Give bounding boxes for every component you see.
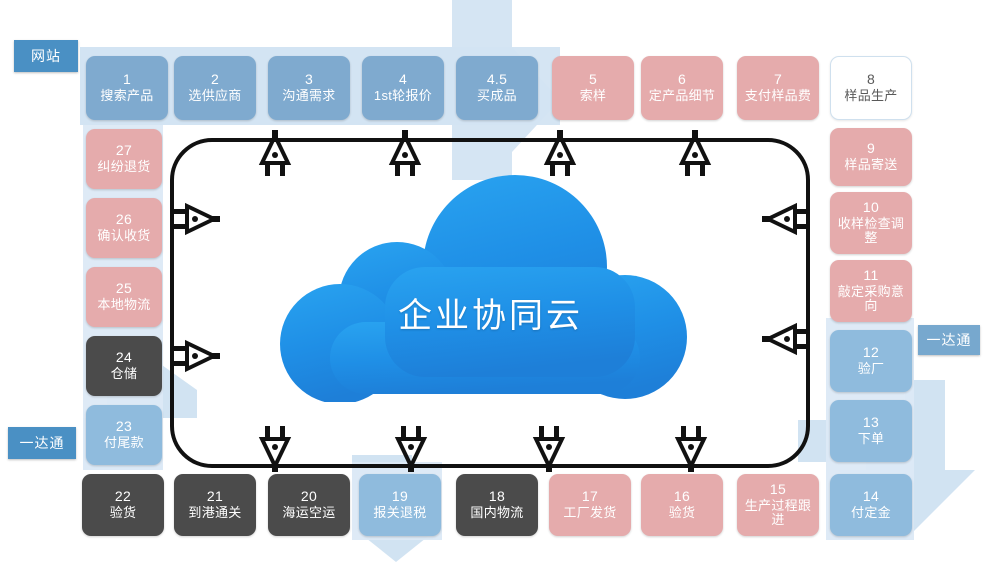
step-label: 买成品 [474, 89, 520, 104]
step-box-21[interactable]: 21 到港通关 [174, 474, 256, 536]
step-label: 1st轮报价 [371, 89, 435, 104]
step-label: 定产品细节 [646, 89, 719, 104]
step-box-5[interactable]: 5 索样 [552, 56, 634, 120]
step-box-22[interactable]: 22 验货 [82, 474, 164, 536]
tag-website-label: 网站 [31, 46, 61, 66]
step-number: 3 [305, 72, 313, 88]
step-box-10[interactable]: 10 收样检查调整 [830, 192, 912, 254]
step-label: 纠纷退货 [94, 160, 153, 175]
step-number: 23 [116, 419, 132, 435]
plug-top-4-icon [676, 130, 714, 178]
plug-top-1-icon [256, 130, 294, 178]
step-number: 7 [774, 72, 782, 88]
step-label: 工厂发货 [560, 506, 619, 521]
step-box-8[interactable]: 8 样品生产 [830, 56, 912, 120]
step-number: 5 [589, 72, 597, 88]
tag-yidatong-right-label: 一达通 [927, 330, 972, 350]
plug-right-2-icon [762, 320, 810, 358]
step-box-4[interactable]: 4 1st轮报价 [362, 56, 444, 120]
step-box-16[interactable]: 16 验货 [641, 474, 723, 536]
plug-bottom-3-icon [530, 424, 568, 472]
plug-bottom-1-icon [256, 424, 294, 472]
step-box-24[interactable]: 24 仓储 [86, 336, 162, 396]
step-box-27[interactable]: 27 纠纷退货 [86, 129, 162, 189]
step-label: 沟通需求 [279, 89, 338, 104]
step-box-9[interactable]: 9 样品寄送 [830, 128, 912, 186]
step-label: 样品寄送 [841, 158, 900, 173]
step-label: 搜索产品 [97, 89, 156, 104]
step-label: 验货 [107, 506, 140, 521]
step-number: 22 [115, 489, 131, 505]
step-box-17[interactable]: 17 工厂发货 [549, 474, 631, 536]
step-number: 25 [116, 281, 132, 297]
step-number: 4 [399, 72, 407, 88]
step-number: 24 [116, 350, 132, 366]
cloud-center-label: 企业协同云 [398, 288, 583, 337]
cloud-shape [275, 172, 695, 402]
step-label: 收样检查调整 [830, 217, 912, 246]
step-box-19[interactable]: 19 报关退税 [359, 474, 441, 536]
step-box-23[interactable]: 23 付尾款 [86, 405, 162, 465]
step-box-2[interactable]: 2 选供应商 [174, 56, 256, 120]
step-box-11[interactable]: 11 敲定采购意向 [830, 260, 912, 322]
step-number: 10 [863, 200, 879, 216]
step-box-4-5[interactable]: 4.5 买成品 [456, 56, 538, 120]
step-number: 2 [211, 72, 219, 88]
step-box-15[interactable]: 15 生产过程跟进 [737, 474, 819, 536]
step-box-7[interactable]: 7 支付样品费 [737, 56, 819, 120]
step-box-25[interactable]: 25 本地物流 [86, 267, 162, 327]
plug-top-3-icon [541, 130, 579, 178]
plug-top-2-icon [386, 130, 424, 178]
plug-left-1-icon [172, 200, 220, 238]
step-number: 17 [582, 489, 598, 505]
step-box-3[interactable]: 3 沟通需求 [268, 56, 350, 120]
step-label: 国内物流 [467, 506, 526, 521]
step-label: 海运空运 [279, 506, 338, 521]
step-box-1[interactable]: 1 搜索产品 [86, 56, 168, 120]
plug-bottom-4-icon [672, 424, 710, 472]
step-number: 27 [116, 143, 132, 159]
step-box-14[interactable]: 14 付定金 [830, 474, 912, 536]
step-number: 13 [863, 415, 879, 431]
step-number: 4.5 [487, 72, 507, 88]
step-label: 报关退税 [370, 506, 429, 521]
step-number: 6 [678, 72, 686, 88]
step-label: 验货 [666, 506, 699, 521]
step-label: 本地物流 [94, 298, 153, 313]
step-label: 索样 [577, 89, 610, 104]
step-box-26[interactable]: 26 确认收货 [86, 198, 162, 258]
step-box-6[interactable]: 6 定产品细节 [641, 56, 723, 120]
step-label: 选供应商 [185, 89, 244, 104]
step-label: 仓储 [108, 367, 141, 382]
step-label: 付尾款 [101, 436, 147, 451]
step-number: 12 [863, 345, 879, 361]
step-number: 18 [489, 489, 505, 505]
step-number: 9 [867, 141, 875, 157]
step-label: 下单 [855, 432, 888, 447]
step-number: 15 [770, 482, 786, 498]
step-number: 1 [123, 72, 131, 88]
step-label: 样品生产 [841, 89, 900, 104]
step-box-18[interactable]: 18 国内物流 [456, 474, 538, 536]
step-number: 19 [392, 489, 408, 505]
step-number: 26 [116, 212, 132, 228]
step-number: 8 [867, 72, 875, 88]
plug-left-2-icon [172, 337, 220, 375]
plug-bottom-2-icon [392, 424, 430, 472]
step-box-12[interactable]: 12 验厂 [830, 330, 912, 392]
step-box-13[interactable]: 13 下单 [830, 400, 912, 462]
step-number: 20 [301, 489, 317, 505]
step-label: 支付样品费 [742, 89, 815, 104]
step-label: 生产过程跟进 [737, 499, 819, 528]
step-label: 验厂 [855, 362, 888, 377]
step-label: 到港通关 [185, 506, 244, 521]
step-label: 敲定采购意向 [830, 285, 912, 314]
tag-website[interactable]: 网站 [14, 40, 78, 72]
tag-yidatong-right[interactable]: 一达通 [918, 325, 980, 355]
step-number: 21 [207, 489, 223, 505]
plug-right-1-icon [762, 200, 810, 238]
step-number: 14 [863, 489, 879, 505]
step-label: 确认收货 [94, 229, 153, 244]
diagram-canvas: 企业协同云 [0, 0, 1000, 562]
step-box-20[interactable]: 20 海运空运 [268, 474, 350, 536]
step-number: 16 [674, 489, 690, 505]
tag-yidatong-left[interactable]: 一达通 [8, 427, 76, 459]
step-label: 付定金 [848, 506, 894, 521]
step-number: 11 [863, 268, 878, 284]
tag-yidatong-left-label: 一达通 [20, 433, 65, 453]
